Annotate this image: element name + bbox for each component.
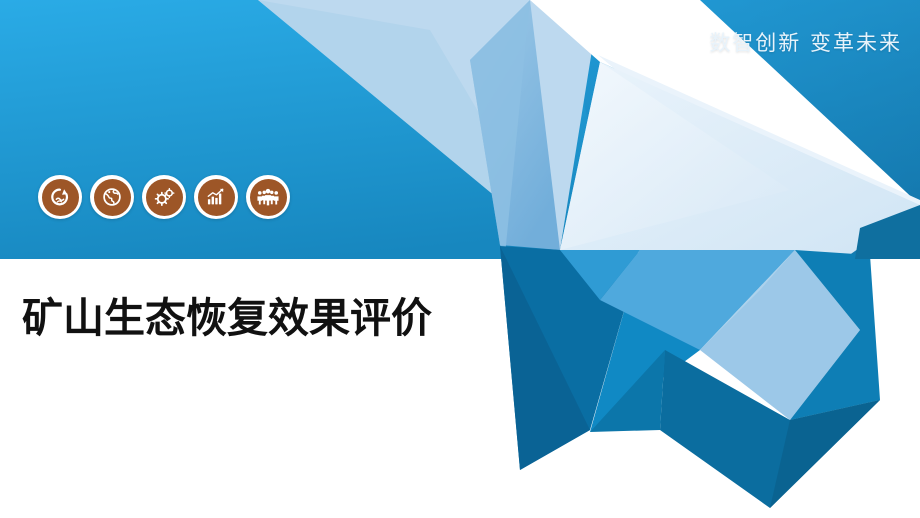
icon-badge-people[interactable] <box>246 175 290 219</box>
icon-disc <box>250 179 287 216</box>
people-group-icon <box>256 186 280 208</box>
icon-badge-globe[interactable] <box>90 175 134 219</box>
icon-badge-bar-chart[interactable] <box>194 175 238 219</box>
icon-disc <box>42 179 79 216</box>
bar-chart-icon <box>205 186 227 208</box>
page-title: 矿山生态恢复效果评价 <box>22 296 432 341</box>
feature-icon-row <box>38 175 290 219</box>
globe-icon <box>101 186 123 208</box>
icon-disc <box>146 179 183 216</box>
icon-disc <box>94 179 131 216</box>
presentation-slide: 数智创新 变革未来 <box>0 0 920 518</box>
icon-badge-recycle[interactable] <box>38 175 82 219</box>
gears-icon <box>153 186 176 209</box>
slide-tagline: 数智创新 变革未来 <box>709 27 902 57</box>
recycle-arrow-icon <box>49 186 71 208</box>
background-artwork <box>0 0 920 518</box>
icon-disc <box>198 179 235 216</box>
icon-badge-gears[interactable] <box>142 175 186 219</box>
